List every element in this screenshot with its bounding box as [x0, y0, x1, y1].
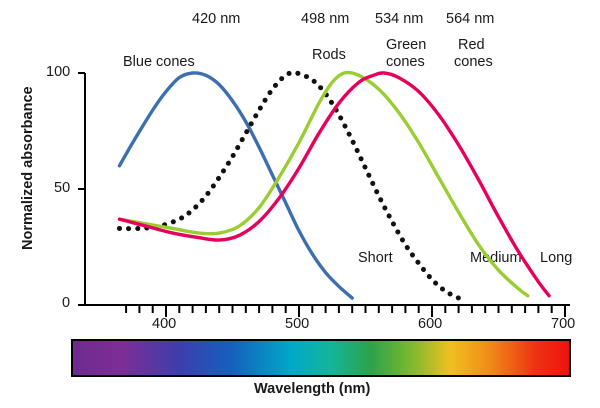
absorbance-spectra-figure: Normalized absorbance 100 50 0 400 500 6…: [0, 0, 600, 408]
plot-canvas: [0, 0, 600, 408]
curve-green-cones: [119, 72, 527, 295]
curve-red-cones: [119, 73, 549, 296]
